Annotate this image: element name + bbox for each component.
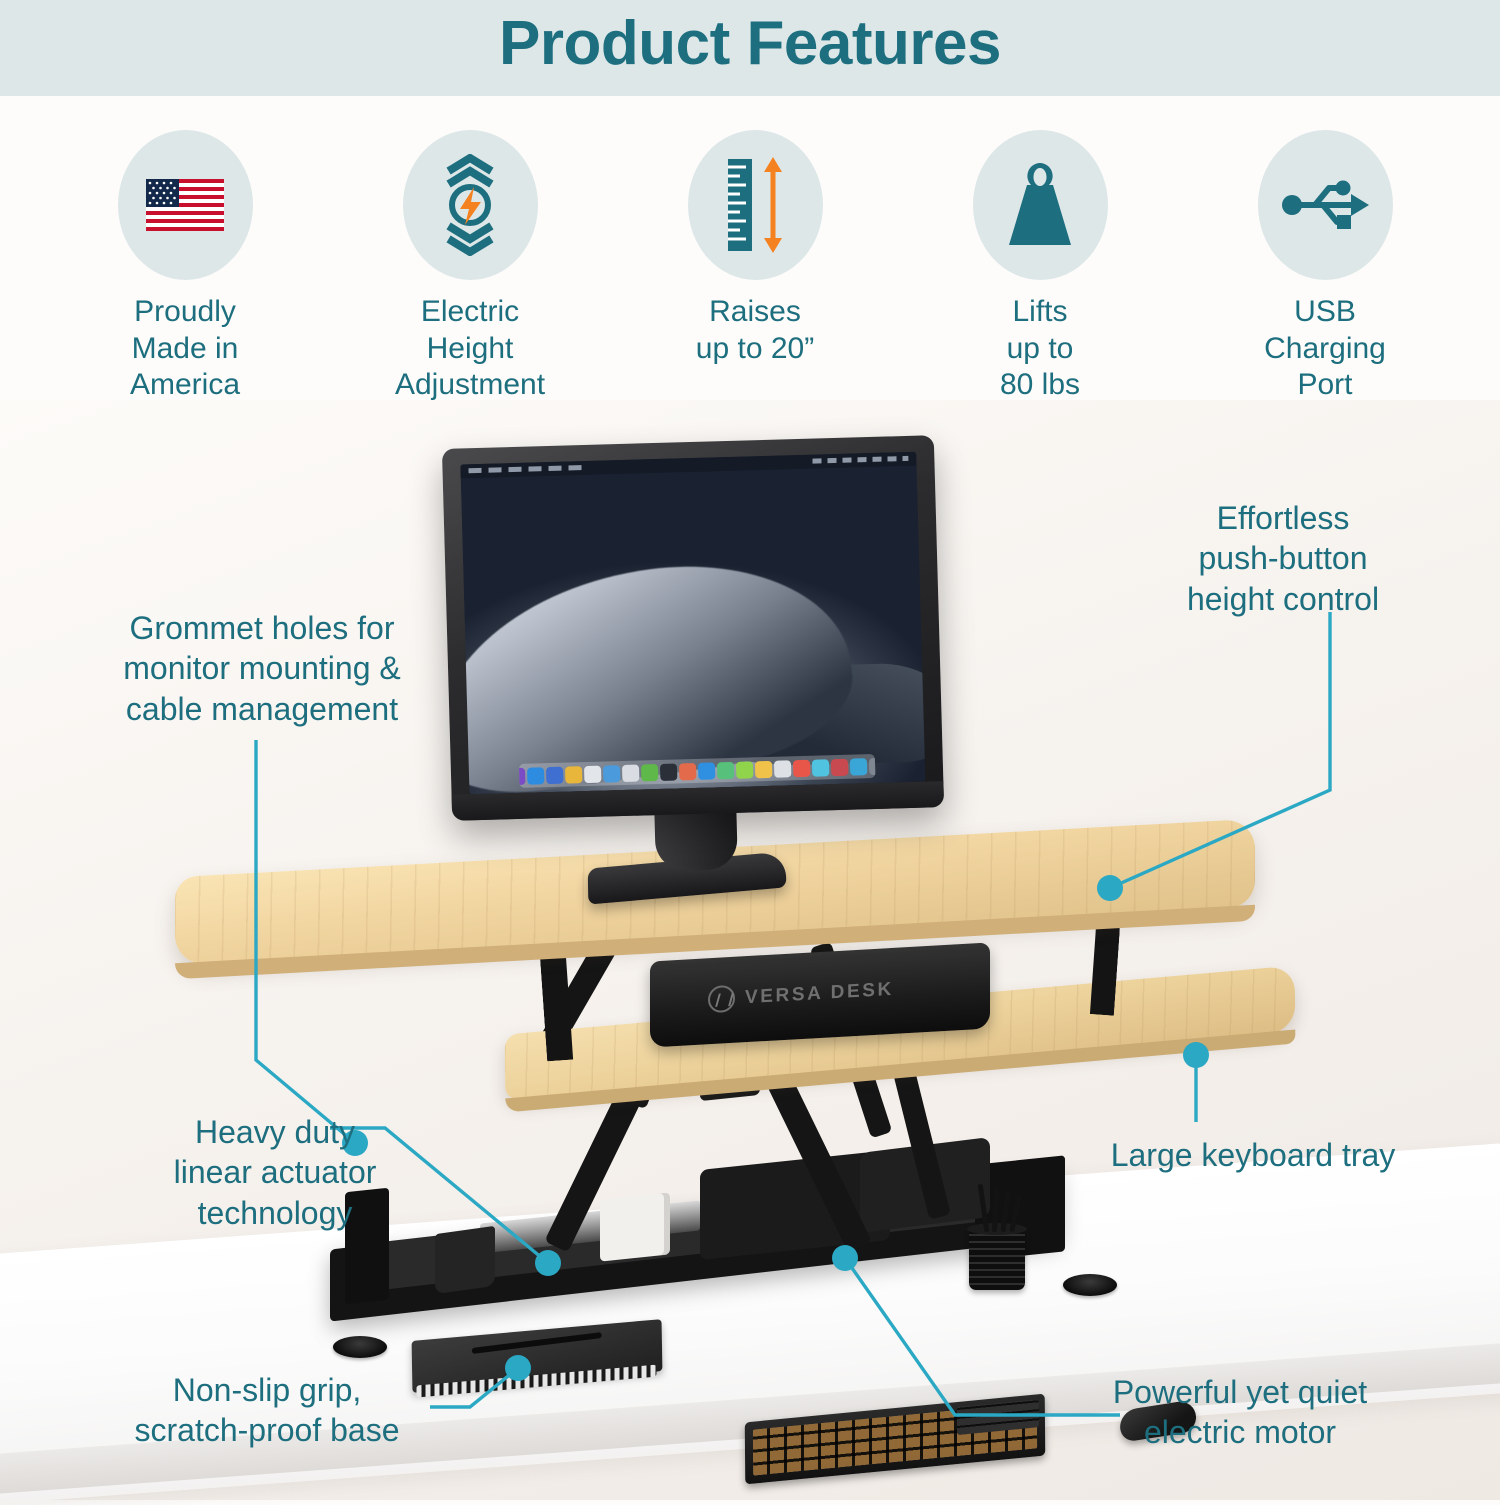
callout-dot-motor: [832, 1245, 858, 1271]
annotation-layer: Grommet holes for monitor mounting & cab…: [0, 0, 1500, 1500]
callout-non-slip-base: Non-slip grip, scratch-proof base: [102, 1370, 432, 1451]
infographic-stage: Product Features: [0, 0, 1500, 1500]
leader-lines: [0, 0, 1500, 1500]
callout-keyboard-tray: Large keyboard tray: [1068, 1135, 1438, 1175]
callout-linear-actuator: Heavy duty linear actuator technology: [140, 1112, 410, 1233]
callout-dot-base: [505, 1355, 531, 1381]
callout-dot-actuator: [535, 1250, 561, 1276]
callout-dot-push-button: [1097, 875, 1123, 901]
callout-push-button: Effortless push-button height control: [1128, 498, 1438, 619]
callout-electric-motor: Powerful yet quiet electric motor: [1055, 1372, 1425, 1453]
callout-dot-keyboard-tray: [1183, 1042, 1209, 1068]
callout-grommet-holes: Grommet holes for monitor mounting & cab…: [82, 608, 442, 729]
